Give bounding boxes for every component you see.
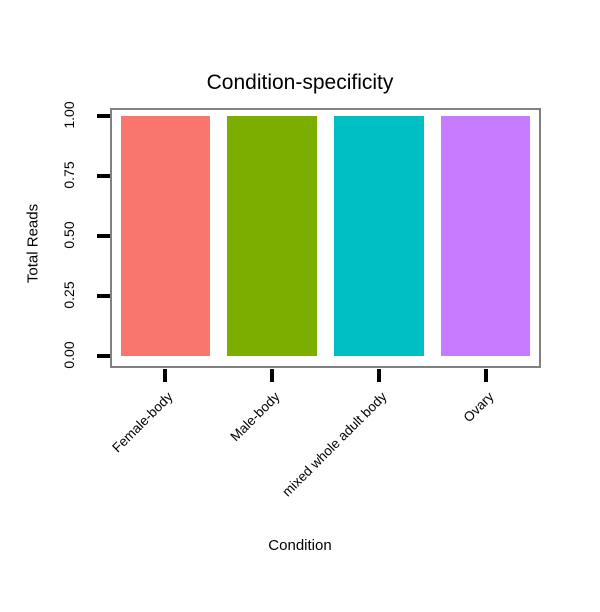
y-tick-label: 0.25 [61, 273, 77, 317]
y-tick-mark [97, 234, 110, 238]
y-tick-label: 0.00 [61, 333, 77, 377]
chart-title: Condition-specificity [0, 70, 600, 96]
y-tick-label: 1.00 [61, 93, 77, 137]
x-tick-mark [270, 369, 274, 382]
plot-area [112, 110, 539, 366]
bar [334, 116, 424, 356]
y-tick-label: 0.75 [61, 153, 77, 197]
bar [121, 116, 211, 356]
x-tick-mark [377, 369, 381, 382]
x-tick-label: Male-body [60, 389, 283, 612]
plot-panel [110, 108, 541, 368]
y-tick-mark [97, 294, 110, 298]
x-tick-label: Ovary [273, 389, 496, 612]
y-tick-mark [97, 174, 110, 178]
x-tick-mark [484, 369, 488, 382]
bar [227, 116, 317, 356]
x-axis-title: Condition [0, 537, 600, 554]
bar [441, 116, 531, 356]
x-tick-label: mixed whole adult body [167, 389, 390, 612]
y-tick-label: 0.50 [61, 213, 77, 257]
y-tick-mark [97, 354, 110, 358]
y-tick-mark [97, 114, 110, 118]
x-tick-mark [163, 369, 167, 382]
y-axis-title: Total Reads [25, 184, 42, 304]
bar-chart-figure: Condition-specificity Total Reads 0.000.… [0, 0, 600, 600]
